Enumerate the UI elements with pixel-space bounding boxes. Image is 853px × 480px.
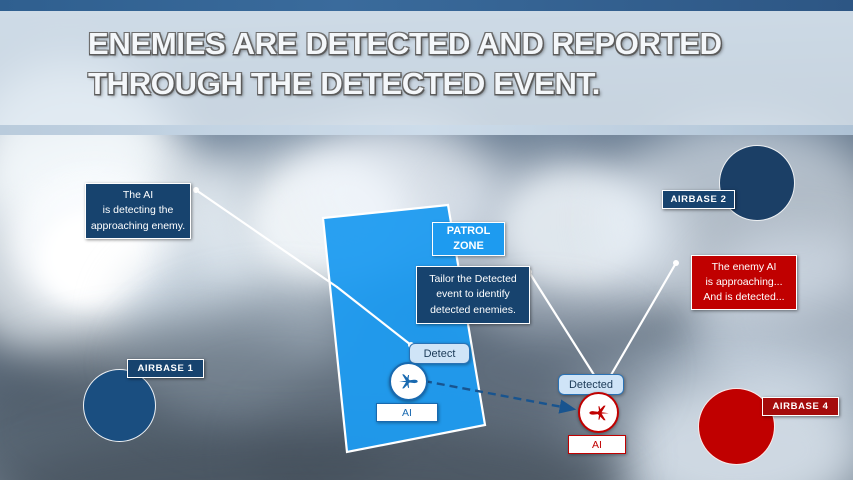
leader-line-tailor-note — [529, 272, 596, 378]
enemy-unit-label: AI — [568, 435, 626, 454]
friendly-unit-marker[interactable] — [389, 362, 428, 401]
leader-line-enemy-note — [611, 263, 676, 375]
airbase-1-circle — [83, 369, 156, 442]
patrol-zone-label: PATROL ZONE — [432, 222, 505, 256]
callout-enemy-note: The enemy AI is approaching... And is de… — [691, 255, 797, 310]
airbase-1-tag: AIRBASE 1 — [127, 359, 204, 378]
callout-friendly-note: The AI is detecting the approaching enem… — [85, 183, 191, 239]
leader-dot — [193, 187, 199, 193]
leader-dot — [673, 260, 679, 266]
friendly-unit-label: AI — [376, 403, 438, 422]
jet-fighter-icon — [397, 370, 420, 393]
detect-event-button[interactable]: Detect — [409, 343, 470, 364]
airbase-2-circle — [719, 145, 795, 221]
slide-canvas: ENEMIES ARE DETECTED AND REPORTED THROUG… — [0, 0, 853, 480]
airbase-2-tag: AIRBASE 2 — [662, 190, 735, 209]
airbase-4-tag: AIRBASE 4 — [762, 397, 839, 416]
enemy-unit-marker[interactable] — [578, 392, 619, 433]
callout-tailor-note: Tailor the Detected event to identify de… — [416, 266, 530, 324]
jet-fighter-icon — [587, 401, 611, 425]
leader-line-friendly-note — [196, 190, 337, 287]
detected-event-button[interactable]: Detected — [558, 374, 624, 395]
